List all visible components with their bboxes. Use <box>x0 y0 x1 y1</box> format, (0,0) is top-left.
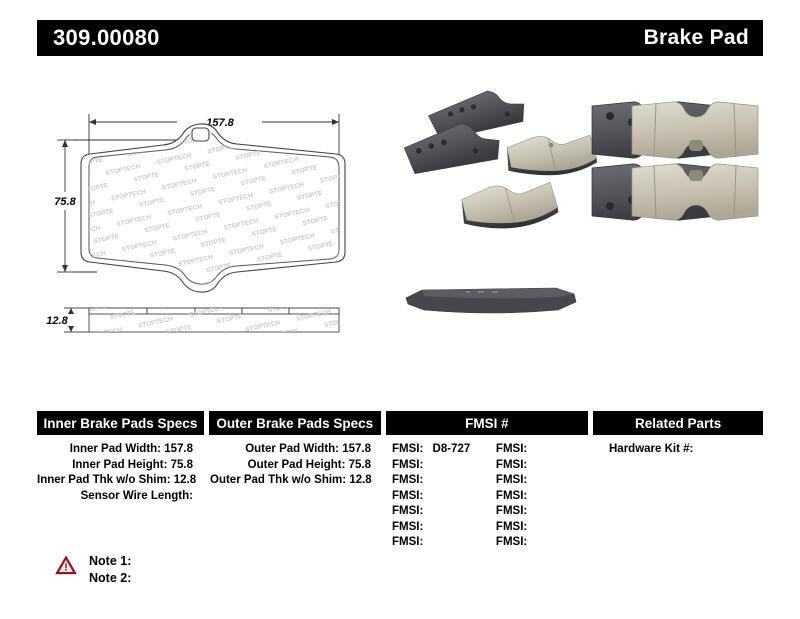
spec-row: Outer Pad Width: 157.8 <box>210 442 383 458</box>
fmsi-value <box>527 505 533 517</box>
fmsi-label: FMSI: <box>496 521 527 533</box>
fmsi-row: FMSI: <box>392 504 492 520</box>
fmsi-value <box>527 443 533 455</box>
height-dimension-label: 75.8 <box>54 196 76 208</box>
fmsi-value <box>527 459 533 471</box>
fmsi-value: D8-727 <box>427 443 471 455</box>
spec-value: 75.8 <box>349 459 371 471</box>
pad-face-outline <box>77 124 357 296</box>
spec-label: Outer Pad Height: <box>248 459 346 471</box>
fmsi-row: FMSI: <box>392 458 492 474</box>
fmsi-row: FMSI: <box>496 520 592 536</box>
fmsi-label: FMSI: <box>496 536 527 548</box>
fmsi-label: FMSI: <box>496 505 527 517</box>
table-header-row: Inner Brake Pads Specs Outer Brake Pads … <box>37 411 763 435</box>
column-header-fmsi: FMSI # <box>386 411 589 435</box>
fmsi-value <box>527 536 533 548</box>
column-header-related-parts: Related Parts <box>593 411 763 435</box>
note-line-2: Note 2: <box>89 570 131 587</box>
fmsi-value <box>423 536 429 548</box>
note-lines: Note 1: Note 2: <box>89 553 131 587</box>
fmsi-subcolumn-b: FMSI: FMSI: FMSI: FMSI: FMSI: <box>492 442 592 551</box>
product-type-label: Brake Pad <box>644 26 749 50</box>
fmsi-value <box>423 521 429 533</box>
brake-pad-drawing-svg: STOPTECH STOPTECH 157.8 <box>37 100 397 350</box>
fmsi-label: FMSI: <box>392 443 423 455</box>
note-line-1: Note 1: <box>89 553 131 570</box>
spec-value: 12.8 <box>174 474 196 486</box>
fmsi-value <box>527 490 533 502</box>
related-part-row: Hardware Kit #: <box>597 442 763 458</box>
spec-label: Inner Pad Width: <box>70 443 161 455</box>
spec-label: Outer Pad Width: <box>245 443 339 455</box>
fmsi-row: FMSI: <box>496 504 592 520</box>
table-body: Inner Pad Width: 157.8 Inner Pad Height:… <box>37 435 763 551</box>
spec-label: Sensor Wire Length: <box>81 490 193 502</box>
fmsi-value <box>423 459 429 471</box>
related-parts-column: Hardware Kit #: <box>597 442 763 551</box>
fmsi-label: FMSI: <box>392 459 423 471</box>
fmsi-label: FMSI: <box>496 459 527 471</box>
spec-value: 12.8 <box>349 474 371 486</box>
pad-watermark <box>77 124 357 296</box>
spec-label: Inner Pad Thk w/o Shim: <box>37 474 171 486</box>
spec-row: Sensor Wire Length: <box>37 489 205 505</box>
fmsi-value <box>527 474 533 486</box>
fmsi-row: FMSI: <box>496 473 592 489</box>
pad-tab-hole <box>192 128 209 141</box>
inner-specs-column: Inner Pad Width: 157.8 Inner Pad Height:… <box>37 442 205 551</box>
fmsi-label: FMSI: <box>496 474 527 486</box>
photo-flat-pads <box>592 102 758 220</box>
fmsi-column: FMSI: D8-727 FMSI: FMSI: FMSI: FMSI: <box>388 442 592 551</box>
spec-row: Inner Pad Thk w/o Shim: 12.8 <box>37 473 205 489</box>
spec-row: Outer Pad Thk w/o Shim: 12.8 <box>210 473 383 489</box>
spec-value: 75.8 <box>171 459 193 471</box>
spec-row: Outer Pad Height: 75.8 <box>210 458 383 474</box>
fmsi-row: FMSI: D8-727 <box>392 442 492 458</box>
fmsi-label: FMSI: <box>392 505 423 517</box>
pad-side-profile <box>83 306 345 336</box>
warning-triangle-icon <box>55 555 77 575</box>
thickness-dimension <box>64 308 89 332</box>
fmsi-row: FMSI: <box>392 520 492 536</box>
part-number: 309.00080 <box>53 25 160 51</box>
related-part-label: Hardware Kit #: <box>609 443 693 455</box>
technical-drawing: STOPTECH STOPTECH 157.8 <box>37 100 397 350</box>
fmsi-value <box>423 505 429 517</box>
fmsi-row: FMSI: <box>496 458 592 474</box>
product-photos-svg <box>400 80 763 350</box>
fmsi-label: FMSI: <box>392 536 423 548</box>
spec-value: 157.8 <box>342 443 371 455</box>
fmsi-label: FMSI: <box>392 474 423 486</box>
fmsi-label: FMSI: <box>392 490 423 502</box>
fmsi-row: FMSI: <box>392 489 492 505</box>
specifications-table: Inner Brake Pads Specs Outer Brake Pads … <box>37 411 763 536</box>
fmsi-label: FMSI: <box>496 443 527 455</box>
spec-label: Outer Pad Thk w/o Shim: <box>210 474 346 486</box>
product-photos <box>400 80 763 350</box>
column-header-inner-specs: Inner Brake Pads Specs <box>37 411 204 435</box>
outer-specs-column: Outer Pad Width: 157.8 Outer Pad Height:… <box>210 442 383 551</box>
title-bar: 309.00080 Brake Pad <box>37 20 763 56</box>
photo-side-edge <box>406 288 576 313</box>
fmsi-row: FMSI: <box>392 535 492 551</box>
fmsi-value <box>527 521 533 533</box>
fmsi-row: FMSI: <box>496 489 592 505</box>
fmsi-subcolumn-a: FMSI: D8-727 FMSI: FMSI: FMSI: FMSI: <box>388 442 492 551</box>
spec-row: Inner Pad Height: 75.8 <box>37 458 205 474</box>
fmsi-row: FMSI: <box>496 442 592 458</box>
spec-value: 157.8 <box>164 443 193 455</box>
fmsi-row: FMSI: <box>392 473 492 489</box>
fmsi-row: FMSI: <box>496 535 592 551</box>
notes-section: Note 1: Note 2: <box>55 553 131 587</box>
photo-angled-pads <box>402 85 598 234</box>
thickness-dimension-label: 12.8 <box>46 315 68 327</box>
fmsi-value <box>423 474 429 486</box>
spec-label: Inner Pad Height: <box>72 459 167 471</box>
spec-row: Inner Pad Width: 157.8 <box>37 442 205 458</box>
column-header-outer-specs: Outer Brake Pads Specs <box>209 411 381 435</box>
fmsi-label: FMSI: <box>496 490 527 502</box>
fmsi-label: FMSI: <box>392 521 423 533</box>
fmsi-value <box>423 490 429 502</box>
